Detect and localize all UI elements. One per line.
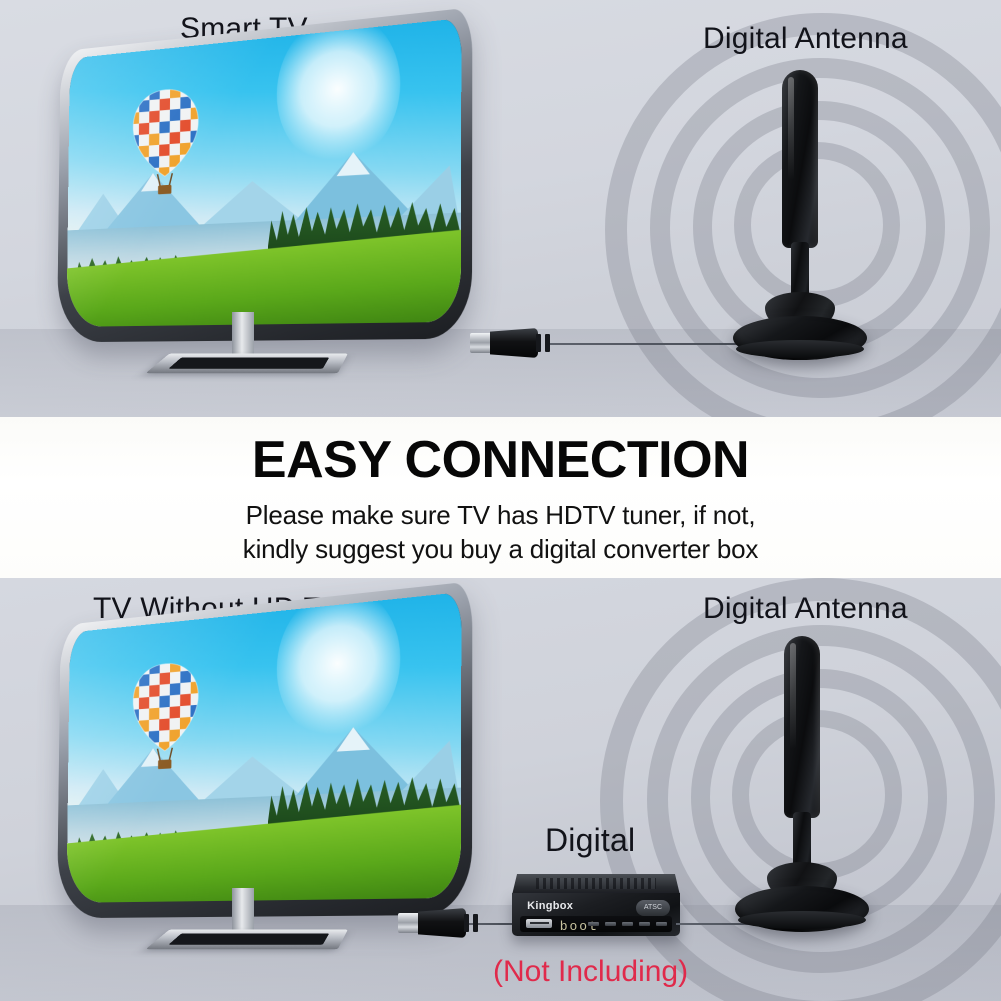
tv-stand-base <box>146 929 348 949</box>
converter-brand-label: Kingbox <box>527 900 573 912</box>
usb-port-slot <box>530 922 548 924</box>
banner-subtitle-line1: Please make sure TV has HDTV tuner, if n… <box>0 498 1001 532</box>
converter-atsc-badge: ATSC <box>636 900 670 916</box>
digital-antenna-label-bottom: Digital Antenna <box>703 592 908 626</box>
connector-ridge <box>536 334 541 352</box>
digital-antenna-bottom <box>722 636 882 932</box>
tv-stand-neck <box>232 312 254 358</box>
tv-stand-base-inset <box>168 934 329 945</box>
converter-button[interactable] <box>656 922 667 925</box>
banner-title: EASY CONNECTION <box>0 433 1001 488</box>
converter-button[interactable] <box>605 922 616 925</box>
not-including-note: (Not Including) <box>493 955 688 989</box>
converter-button[interactable] <box>622 922 633 925</box>
usb-port[interactable] <box>526 919 552 928</box>
converter-vents <box>536 878 657 889</box>
coax-connector-top <box>470 326 556 360</box>
tv-stand-base <box>146 353 348 373</box>
converter-front-strip: boot <box>520 916 671 932</box>
screen-hot-air-balloon <box>128 84 203 216</box>
connector-ridge <box>464 914 469 932</box>
smart-tv <box>38 30 466 340</box>
converter-box-front: Kingbox ATSC boot <box>512 893 680 936</box>
banner-subtitle-line2: kindly suggest you buy a digital convert… <box>0 532 1001 566</box>
digital-converter-box[interactable]: Kingbox ATSC boot <box>512 874 680 936</box>
infographic-root: Smart TV Digital Antenna <box>0 0 1001 1001</box>
connector-ridge <box>545 334 550 352</box>
digital-converter-label: Digital <box>545 822 635 859</box>
bottom-panel: TV Without HD Tuner Digital Antenna Digi… <box>0 578 1001 1001</box>
antenna-base-rim <box>738 911 866 929</box>
connector-ridge <box>473 914 478 932</box>
digital-antenna-top <box>720 70 880 360</box>
top-panel: Smart TV Digital Antenna <box>0 0 1001 417</box>
antenna-rod <box>784 636 820 818</box>
converter-box-top <box>512 874 680 895</box>
tv-screen <box>67 593 461 904</box>
converter-atsc-badge-text: ATSC <box>636 900 670 916</box>
converter-button-row[interactable] <box>588 921 667 926</box>
converter-button[interactable] <box>639 922 650 925</box>
tv-without-hd-tuner <box>38 604 466 916</box>
tv-screen <box>67 19 461 328</box>
tv-stand-base-inset <box>168 358 329 369</box>
converter-button[interactable] <box>588 922 599 925</box>
coax-connector-bottom-left <box>398 906 484 940</box>
antenna-rod <box>782 70 818 248</box>
antenna-base-rim <box>736 340 864 358</box>
digital-antenna-label-top: Digital Antenna <box>703 22 908 56</box>
connector-body <box>490 328 538 358</box>
tv-stand-neck <box>232 888 254 934</box>
connector-body <box>418 908 466 938</box>
screen-hot-air-balloon <box>128 658 203 791</box>
banner: EASY CONNECTION Please make sure TV has … <box>0 417 1001 578</box>
